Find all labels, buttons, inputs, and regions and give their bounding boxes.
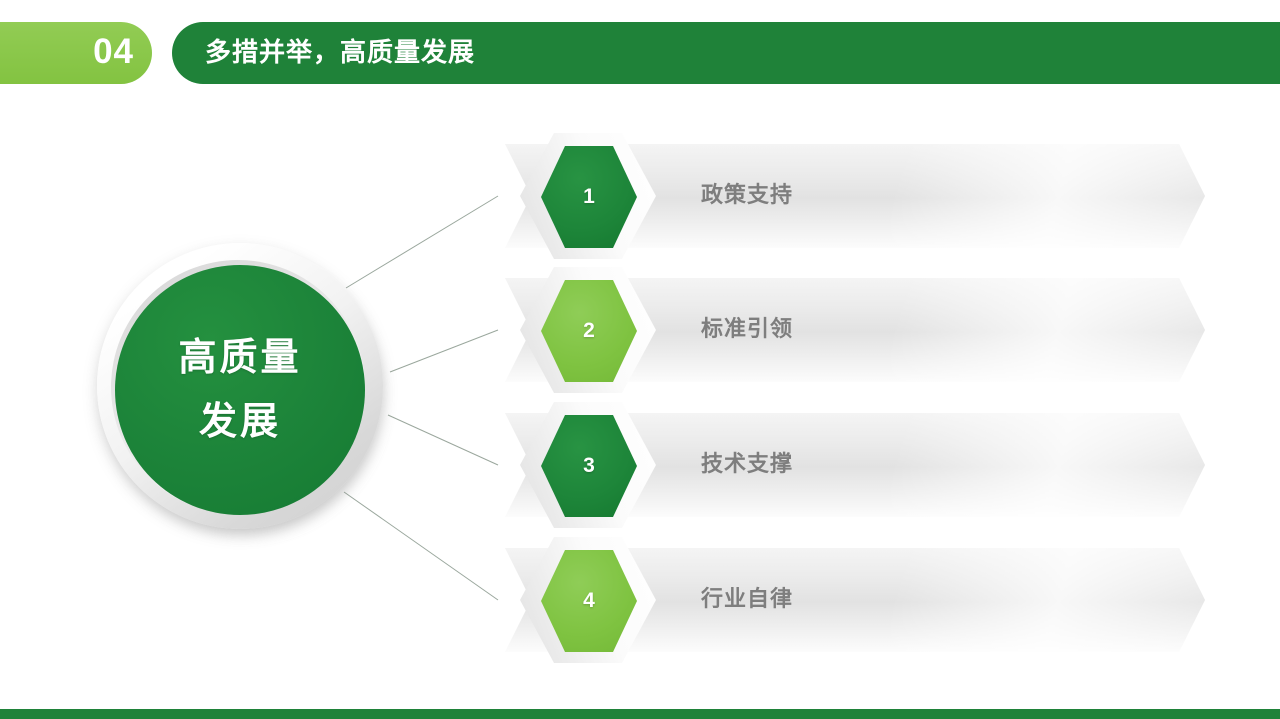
step-label-1: 政策支持 (701, 144, 793, 248)
connector-line-2 (390, 330, 498, 372)
step-number-1: 1 (583, 185, 595, 209)
hub-circle: 高质量 发展 (115, 265, 365, 515)
step-label-4: 行业自律 (701, 548, 793, 652)
section-title: 多措并举，高质量发展 (205, 22, 475, 84)
central-hub[interactable]: 高质量 发展 (97, 243, 387, 533)
step-label-2: 标准引领 (701, 278, 793, 382)
hub-label-line-2: 发展 (199, 403, 281, 441)
step-row-2[interactable]: 标准引领 2 (495, 262, 1200, 398)
step-label-3: 技术支撑 (701, 413, 793, 517)
slide-header: 04 多措并举，高质量发展 (0, 22, 1280, 84)
footer-bar (0, 709, 1280, 719)
slide: 04 多措并举，高质量发展 高质量 发展 政策支持 1 (0, 0, 1280, 719)
hub-label-line-1: 高质量 (178, 339, 301, 377)
connector-line-3 (388, 415, 498, 465)
section-number: 04 (93, 22, 134, 84)
step-row-1[interactable]: 政策支持 1 (495, 128, 1200, 264)
step-number-3: 3 (583, 454, 595, 478)
step-number-4: 4 (583, 589, 595, 613)
section-number-pill: 04 (0, 22, 152, 84)
step-row-4[interactable]: 行业自律 4 (495, 532, 1200, 668)
step-row-3[interactable]: 技术支撑 3 (495, 397, 1200, 533)
step-number-2: 2 (583, 319, 595, 343)
